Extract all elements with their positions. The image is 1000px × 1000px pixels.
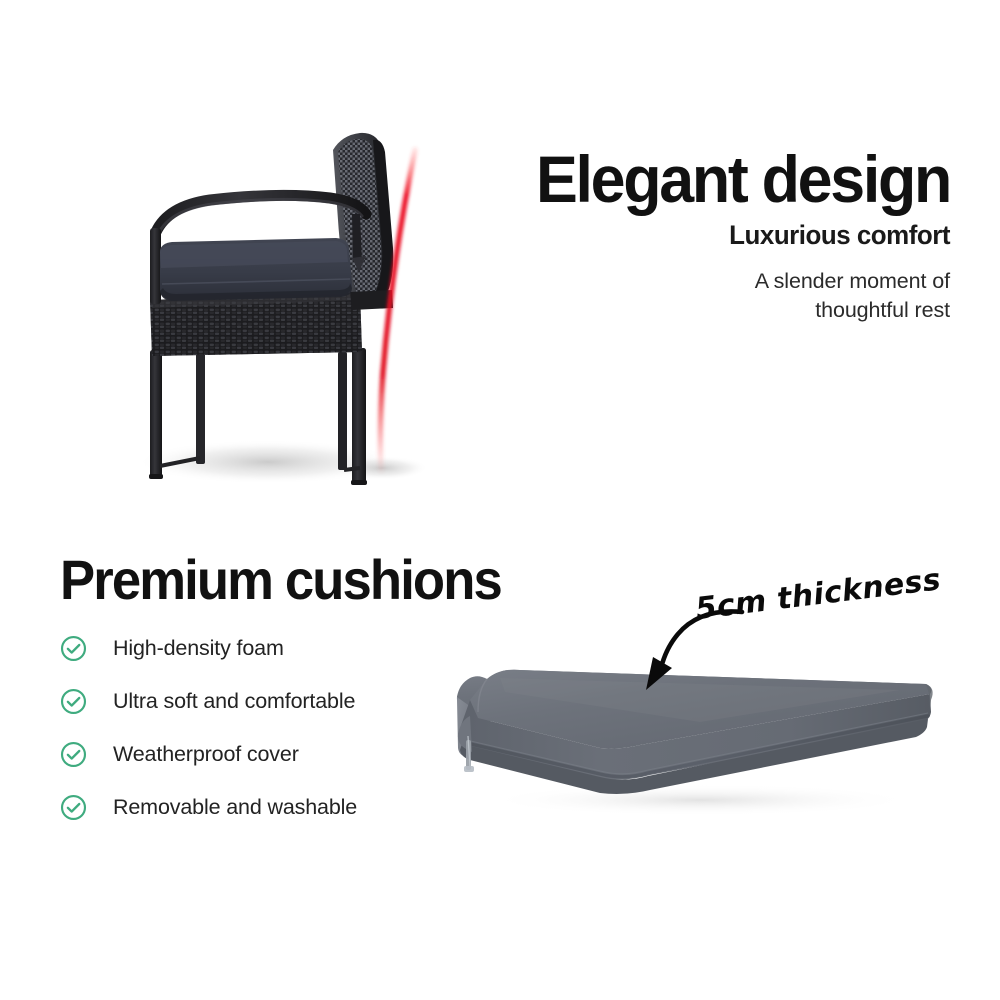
feature-label: Removable and washable [113,795,357,820]
feature-label: Ultra soft and comfortable [113,689,355,714]
hero-copy-block: Elegant design Luxurious comfort A slend… [430,148,950,324]
list-item: Weatherproof cover [60,728,460,781]
features-heading: Premium cushions [60,547,501,612]
feature-label: High-density foam [113,636,284,661]
feature-list: High-density foam Ultra soft and comfort… [60,622,460,834]
hero-tagline: A slender moment of thoughtful rest [430,267,950,324]
check-circle-icon [60,741,87,768]
list-item: High-density foam [60,622,460,675]
hero-tagline-line-2: thoughtful rest [430,296,950,325]
hero-tagline-line-1: A slender moment of [430,267,950,296]
check-circle-icon [60,794,87,821]
thickness-callout-label: 5cm thickness [694,562,943,627]
page-title: Elegant design [456,148,950,210]
check-circle-icon [60,688,87,715]
hero-subhead: Luxurious comfort [451,220,950,251]
product-feature-panel: Elegant design Luxurious comfort A slend… [0,0,1000,1000]
list-item: Ultra soft and comfortable [60,675,460,728]
list-item: Removable and washable [60,781,460,834]
feature-label: Weatherproof cover [113,742,299,767]
check-circle-icon [60,635,87,662]
